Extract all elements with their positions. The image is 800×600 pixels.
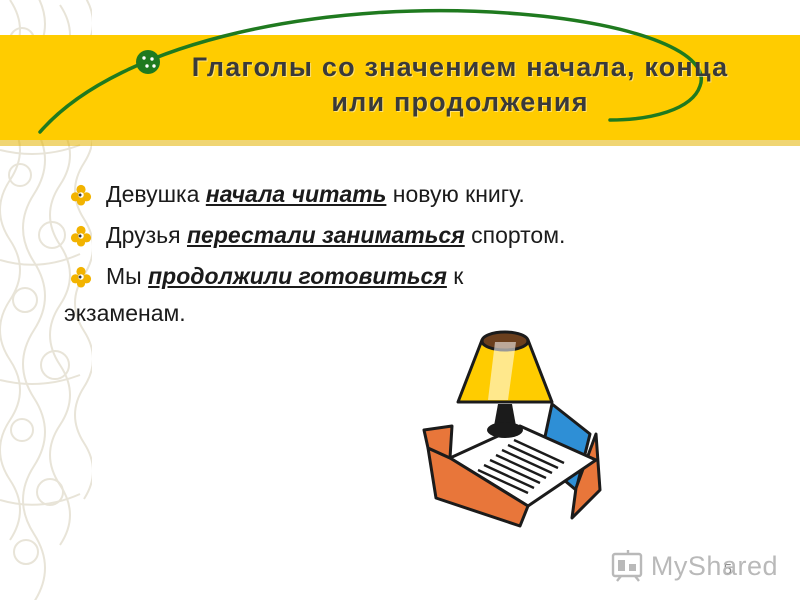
logo-text: MyShared bbox=[651, 551, 778, 582]
flower-bullet-icon bbox=[70, 225, 92, 247]
bullet-emphasis: перестали заниматься bbox=[187, 222, 465, 248]
bullet-text-after: к bbox=[447, 263, 463, 289]
bullet-text-after: новую книгу. bbox=[386, 181, 524, 207]
list-item: Мы продолжили готовиться к bbox=[62, 260, 762, 292]
bullet-text-before: Мы bbox=[106, 263, 148, 289]
bullet-list: Девушка начала читать новую книгу. Друзь… bbox=[62, 178, 762, 329]
slide-canvas: Глаголы со значением начала, конца или п… bbox=[0, 0, 800, 600]
page-title-line2: или продолжения bbox=[150, 85, 770, 120]
logo-text-shared: Shared bbox=[688, 551, 778, 581]
presentation-board-icon bbox=[611, 550, 645, 582]
logo-text-my: My bbox=[651, 551, 688, 581]
bullet-text-before: Друзья bbox=[106, 222, 187, 248]
lamp-book-illustration-icon bbox=[400, 330, 620, 535]
page-title-line1: Глаголы со значением начала, конца bbox=[150, 50, 770, 85]
page-title: Глаголы со значением начала, конца или п… bbox=[150, 50, 770, 120]
bullet-text-before: Девушка bbox=[106, 181, 206, 207]
title-banner-shadow bbox=[0, 140, 800, 146]
list-item: Друзья перестали заниматься спортом. bbox=[62, 219, 762, 251]
flower-bullet-icon bbox=[70, 266, 92, 288]
bullet-emphasis: начала читать bbox=[206, 181, 387, 207]
bullet-text-after: спортом. bbox=[465, 222, 566, 248]
list-item-continuation: экзаменам. bbox=[62, 297, 762, 329]
flower-bullet-icon bbox=[70, 184, 92, 206]
bullet-emphasis: продолжили готовиться bbox=[148, 263, 447, 289]
continuation-text: экзаменам. bbox=[64, 300, 186, 326]
list-item: Девушка начала читать новую книгу. bbox=[62, 178, 762, 210]
myshared-logo[interactable]: MyShared bbox=[611, 550, 778, 582]
